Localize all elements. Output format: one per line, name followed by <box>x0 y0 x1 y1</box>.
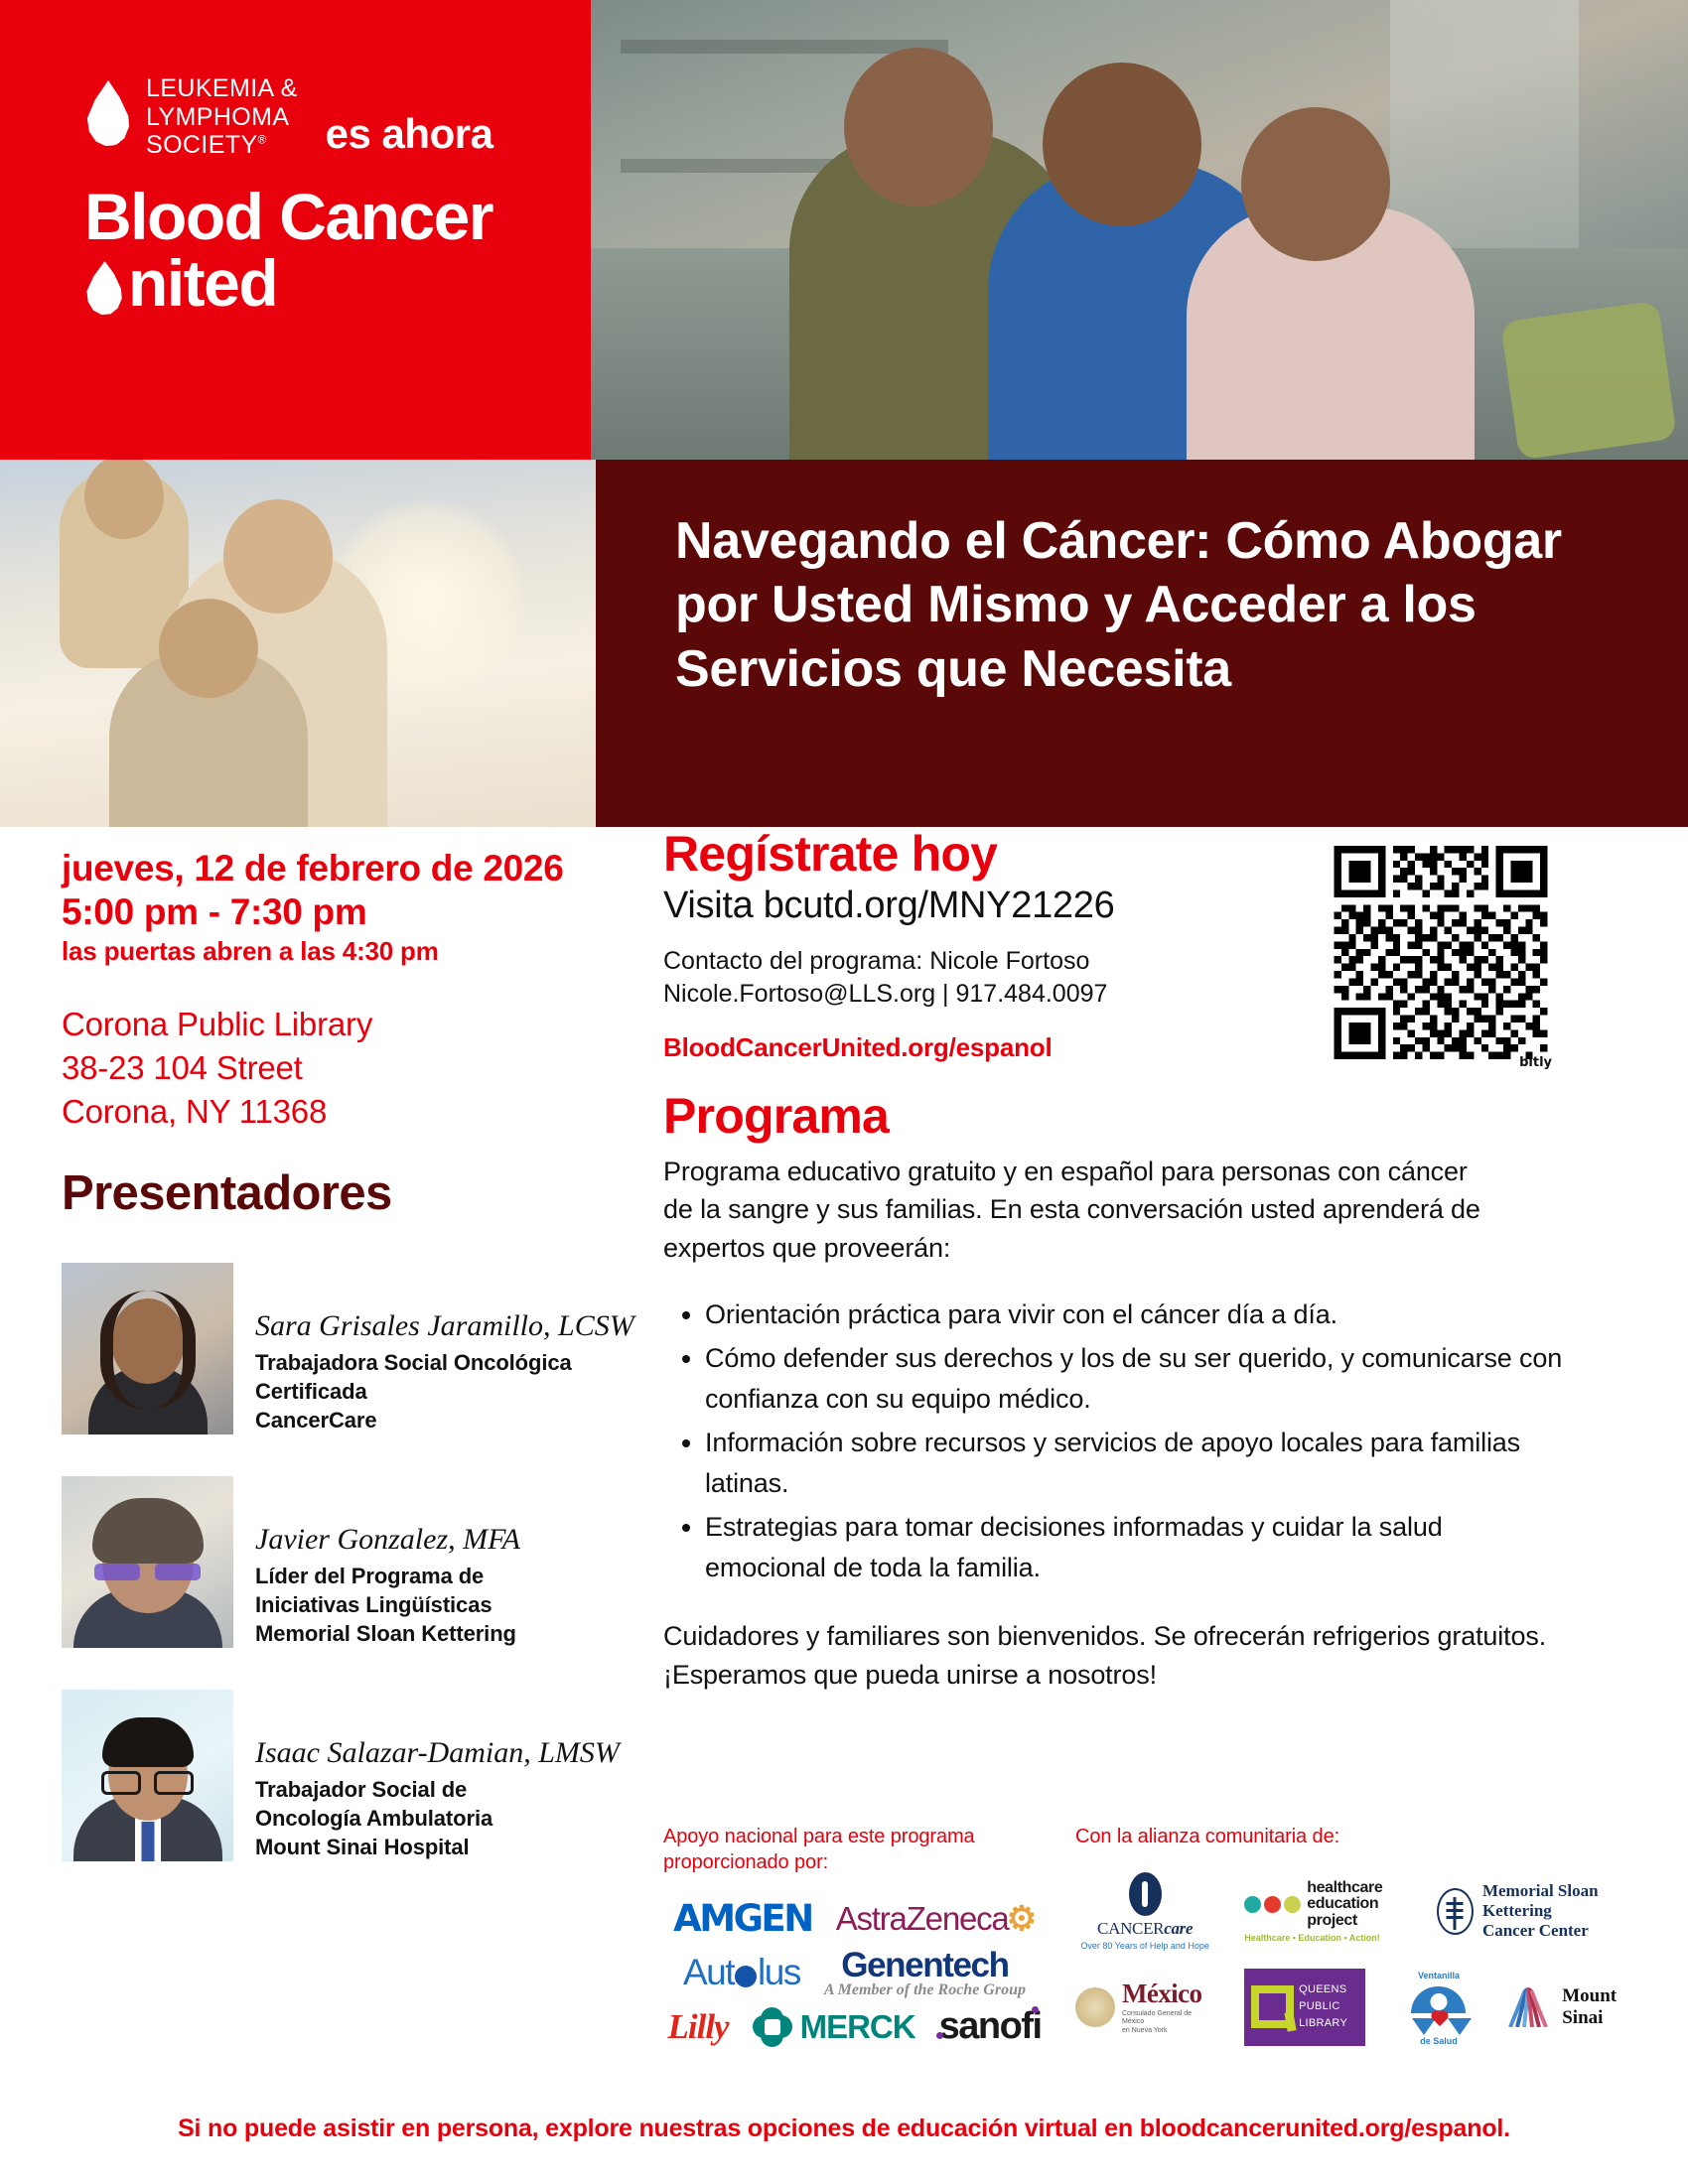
lls-logo: LEUKEMIA & LYMPHOMA SOCIETY® es ahora <box>84 74 492 160</box>
msk-logo: Memorial Sloan KetteringCancer Center <box>1437 1881 1636 1941</box>
mount-sinai-name: MountSinai <box>1562 1985 1617 2028</box>
presenter-name: Sara Grisales Jaramillo, LCSW <box>255 1308 634 1344</box>
program-bullet-list: Orientación práctica para vivir con el c… <box>705 1295 1569 1588</box>
venue-name: Corona Public Library <box>62 1003 657 1046</box>
cancercare-mark-icon <box>1129 1872 1162 1916</box>
qr-code-block[interactable]: bitly <box>1328 846 1556 1070</box>
presenter-org: CancerCare <box>255 1406 634 1434</box>
presenter-role-line-2: Certificada <box>255 1377 634 1406</box>
list-item: Estrategias para tomar decisiones inform… <box>705 1507 1569 1587</box>
autolus-logo: Autlus <box>683 1952 800 1993</box>
presenter-photo <box>62 1263 233 1434</box>
hep-circles-icon <box>1244 1896 1301 1913</box>
qpl-q-icon <box>1251 1985 1294 2028</box>
logo-row: AMGEN AstraZeneca⚙ <box>663 1897 1046 1940</box>
person-mother-head <box>1043 63 1201 226</box>
lilly-logo: Lilly <box>668 2007 729 2047</box>
hep-top: healthcareeducationproject <box>1244 1880 1407 1930</box>
title-band: Navegando el Cáncer: Cómo Abogar por Ust… <box>0 460 1688 827</box>
merck-logo: MERCK <box>753 2007 915 2047</box>
program-heading: Programa <box>663 1087 1617 1145</box>
qpl-name: QUEENSPUBLICLIBRARY <box>1299 1981 1347 2032</box>
logo-row: CANCERcare Over 80 Years of Help and Hop… <box>1075 1872 1636 1951</box>
msk-name: Memorial Sloan KetteringCancer Center <box>1482 1881 1636 1941</box>
person-father-head <box>844 48 993 206</box>
presenter-card: Isaac Salazar-Damian, LMSW Trabajador So… <box>62 1690 657 1861</box>
autolus-dot-icon <box>735 1966 757 1987</box>
blood-drop-icon <box>84 80 132 146</box>
presenter-role-line-2: Oncología Ambulatoria <box>255 1804 620 1833</box>
secondary-family-photo <box>0 460 596 827</box>
genentech-logo: Genentech A Member of the Roche Group <box>824 1946 1026 1999</box>
ventanilla-de-salud-logo: Ventanilla de Salud <box>1395 1969 1477 2046</box>
presenter-org: Mount Sinai Hospital <box>255 1833 620 1861</box>
event-doors-open: las puertas abren a las 4:30 pm <box>62 936 657 967</box>
presenter-role-line-1: Líder del Programa de <box>255 1562 520 1590</box>
sanofi-logo: sanofi <box>939 2005 1042 2048</box>
list-item: Información sobre recursos y servicios d… <box>705 1423 1569 1503</box>
venue-street: 38-23 104 Street <box>62 1046 657 1090</box>
presenter-info: Sara Grisales Jaramillo, LCSW Trabajador… <box>255 1263 634 1434</box>
brand-logo-block: LEUKEMIA & LYMPHOMA SOCIETY® es ahora Bl… <box>0 0 591 460</box>
page-title: Navegando el Cáncer: Cómo Abogar por Ust… <box>675 509 1648 701</box>
lls-line-2: LYMPHOMA <box>146 103 298 132</box>
hero-family-photo <box>591 0 1688 460</box>
logo-row: Lilly MERCK sanofi <box>663 2005 1046 2048</box>
lls-line-1: LEUKEMIA & <box>146 74 298 103</box>
bcu-line-1: Blood Cancer <box>84 184 492 250</box>
presenter-info: Isaac Salazar-Damian, LMSW Trabajador So… <box>255 1690 620 1861</box>
national-sponsors: Apoyo nacional para este programa propor… <box>663 1825 1046 2064</box>
presenter-glasses-icon-2 <box>155 1564 201 1580</box>
u-blood-drop-icon <box>84 261 125 315</box>
lls-wordmark: LEUKEMIA & LYMPHOMA SOCIETY® <box>146 74 298 160</box>
merck-name: MERCK <box>800 2008 915 2046</box>
pillow-shape <box>1500 301 1677 460</box>
presenter-glasses-icon <box>94 1564 140 1580</box>
logo-row: México Consulado General de Méxicoen Nue… <box>1075 1969 1636 2046</box>
header-band: LEUKEMIA & LYMPHOMA SOCIETY® es ahora Bl… <box>0 0 1688 460</box>
event-date: jueves, 12 de febrero de 2026 <box>62 847 657 890</box>
title-banner: Navegando el Cáncer: Cómo Abogar por Ust… <box>596 460 1688 827</box>
event-venue: Corona Public Library 38-23 104 Street C… <box>62 1003 657 1134</box>
genentech-tagline: A Member of the Roche Group <box>824 1981 1026 1999</box>
cancercare-logo: CANCERcare Over 80 Years of Help and Hop… <box>1075 1872 1214 1951</box>
presenter-role-line-2: Iniciativas Lingüísticas <box>255 1590 520 1619</box>
community-partners-heading: Con la alianza comunitaria de: <box>1075 1825 1636 1850</box>
presenter-card: Javier Gonzalez, MFA Líder del Programa … <box>62 1476 657 1648</box>
ventanilla-arc-icon <box>1411 1986 1466 2013</box>
presenter-glasses-icon <box>101 1771 141 1795</box>
tagline-es-ahora: es ahora <box>326 110 493 160</box>
ventanilla-top-text: Ventanilla <box>1395 1971 1482 1980</box>
presenter-role: Trabajadora Social Oncológica Certificad… <box>255 1348 634 1434</box>
ventanilla-bottom-text: de Salud <box>1395 2036 1482 2046</box>
program-intro: Programa educativo gratuito y en español… <box>663 1153 1502 1267</box>
footer: Si no puede asistir en persona, explore … <box>0 2115 1688 2143</box>
presenter-hair <box>100 1291 196 1410</box>
presenter-tie <box>141 1822 154 1861</box>
mexico-subtitle: Consulado General de Méxicoen Nueva York <box>1122 2010 1214 2035</box>
person-child-head <box>1241 107 1390 261</box>
ventanilla-wing-right-icon <box>1448 2018 1472 2035</box>
presenter-glasses-icon-2 <box>154 1771 194 1795</box>
ventanilla-wing-left-icon <box>1412 2018 1436 2035</box>
queens-public-library-logo: QUEENSPUBLICLIBRARY <box>1244 1969 1365 2046</box>
presenter-name: Isaac Salazar-Damian, LMSW <box>255 1735 620 1771</box>
astrazeneca-logo: AstraZeneca⚙ <box>836 1899 1036 1939</box>
cancercare-tagline: Over 80 Years of Help and Hope <box>1075 1941 1214 1951</box>
presenter-photo <box>62 1690 233 1861</box>
presenter-role: Trabajador Social de Oncología Ambulator… <box>255 1775 620 1861</box>
presenter-info: Javier Gonzalez, MFA Líder del Programa … <box>255 1476 520 1648</box>
presenters-heading: Presentadores <box>62 1165 657 1221</box>
astrazeneca-mark-icon: ⚙ <box>1007 1900 1036 1938</box>
list-item: Cómo defender sus derechos y los de su s… <box>705 1338 1569 1419</box>
program-closing: Cuidadores y familiares son bienvenidos.… <box>663 1617 1552 1694</box>
presenter-name: Javier Gonzalez, MFA <box>255 1522 520 1558</box>
merck-mark-icon <box>753 2007 792 2047</box>
mexico-name: México <box>1122 1979 1214 2009</box>
event-time: 5:00 pm - 7:30 pm <box>62 890 657 934</box>
body-area: jueves, 12 de febrero de 2026 5:00 pm - … <box>0 827 1688 2098</box>
flyer-page: LEUKEMIA & LYMPHOMA SOCIETY® es ahora Bl… <box>0 0 1688 2184</box>
lls-line-3: SOCIETY® <box>146 131 298 160</box>
qr-code-icon[interactable] <box>1328 846 1554 1059</box>
presenter-photo <box>62 1476 233 1648</box>
genentech-name: Genentech <box>824 1946 1026 1985</box>
national-logo-grid: AMGEN AstraZeneca⚙ Autlus Genentech A Me… <box>663 1897 1046 2048</box>
presenter-org: Memorial Sloan Kettering <box>255 1619 520 1648</box>
presenter-role-line-1: Trabajador Social de <box>255 1775 620 1804</box>
photo-father-head <box>159 599 258 698</box>
presenter-role: Líder del Programa de Iniciativas Lingüí… <box>255 1562 520 1648</box>
amgen-logo: AMGEN <box>673 1897 812 1940</box>
logo-row: Autlus Genentech A Member of the Roche G… <box>663 1946 1046 1999</box>
list-item: Orientación práctica para vivir con el c… <box>705 1295 1569 1335</box>
blood-cancer-united-wordmark: Blood Cancer nited <box>84 184 492 318</box>
footer-text: Si no puede asistir en persona, explore … <box>178 2115 1510 2142</box>
mexico-text: México Consulado General de Méxicoen Nue… <box>1122 1979 1214 2035</box>
presenter-card: Sara Grisales Jaramillo, LCSW Trabajador… <box>62 1263 657 1434</box>
cancercare-name: CANCERcare <box>1075 1919 1214 1939</box>
mount-sinai-logo: MountSinai <box>1506 1985 1636 2028</box>
mount-sinai-mark-icon <box>1506 1987 1554 2027</box>
bcu-line-2: nited <box>84 250 492 317</box>
mexico-seal-icon <box>1075 1987 1115 2027</box>
sponsors-area: Apoyo nacional para este programa propor… <box>663 1825 1666 2064</box>
msk-mark-icon <box>1437 1888 1474 1935</box>
mexico-consulate-logo: México Consulado General de Méxicoen Nue… <box>1075 1979 1214 2035</box>
community-logo-grid: CANCERcare Over 80 Years of Help and Hop… <box>1075 1872 1636 2046</box>
photo-mother-head <box>223 499 333 614</box>
hep-name: healthcareeducationproject <box>1307 1880 1382 1930</box>
community-partners: Con la alianza comunitaria de: CANCERcar… <box>1075 1825 1636 2064</box>
venue-city: Corona, NY 11368 <box>62 1090 657 1134</box>
national-sponsors-heading: Apoyo nacional para este programa propor… <box>663 1825 1046 1875</box>
hep-tagline: Healthcare • Education • Action! <box>1244 1933 1407 1943</box>
event-details-column: jueves, 12 de febrero de 2026 5:00 pm - … <box>62 847 657 1861</box>
healthcare-education-project-logo: healthcareeducationproject Healthcare • … <box>1244 1880 1407 1943</box>
presenter-role-line-1: Trabajadora Social Oncológica <box>255 1348 634 1377</box>
